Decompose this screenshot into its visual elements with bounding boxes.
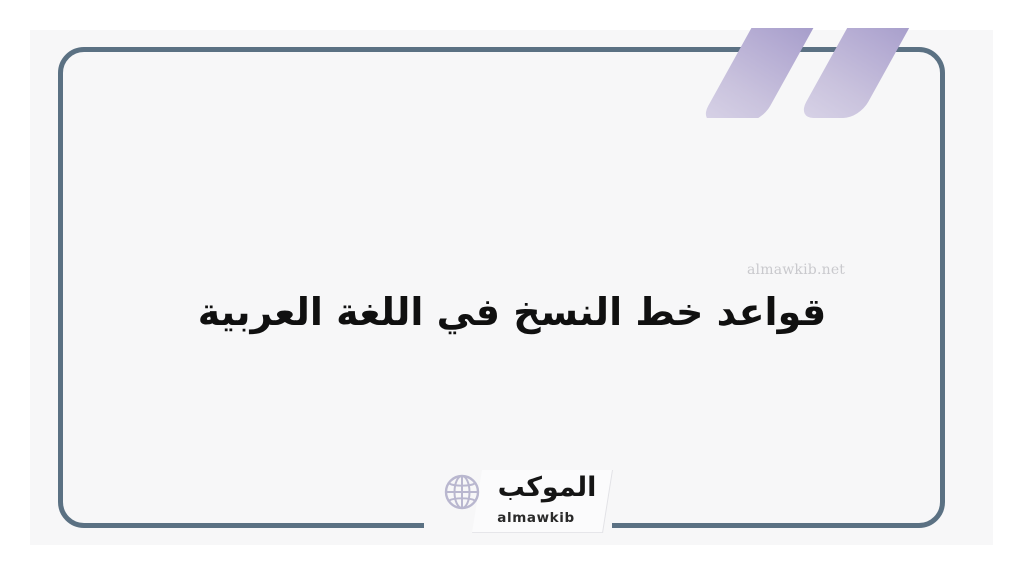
logo-arabic-name: الموكب (487, 470, 607, 506)
logo-latin-name: almawkib (471, 510, 601, 526)
page-title: قواعد خط النسخ في اللغة العربية (0, 287, 1024, 338)
watermark-text: almawkib.net (747, 262, 845, 278)
brand-logo[interactable]: الموكب almawkib (425, 468, 615, 534)
globe-icon (443, 473, 481, 511)
slide-canvas: almawkib.net قواعد خط النسخ في اللغة الع… (0, 0, 1024, 576)
